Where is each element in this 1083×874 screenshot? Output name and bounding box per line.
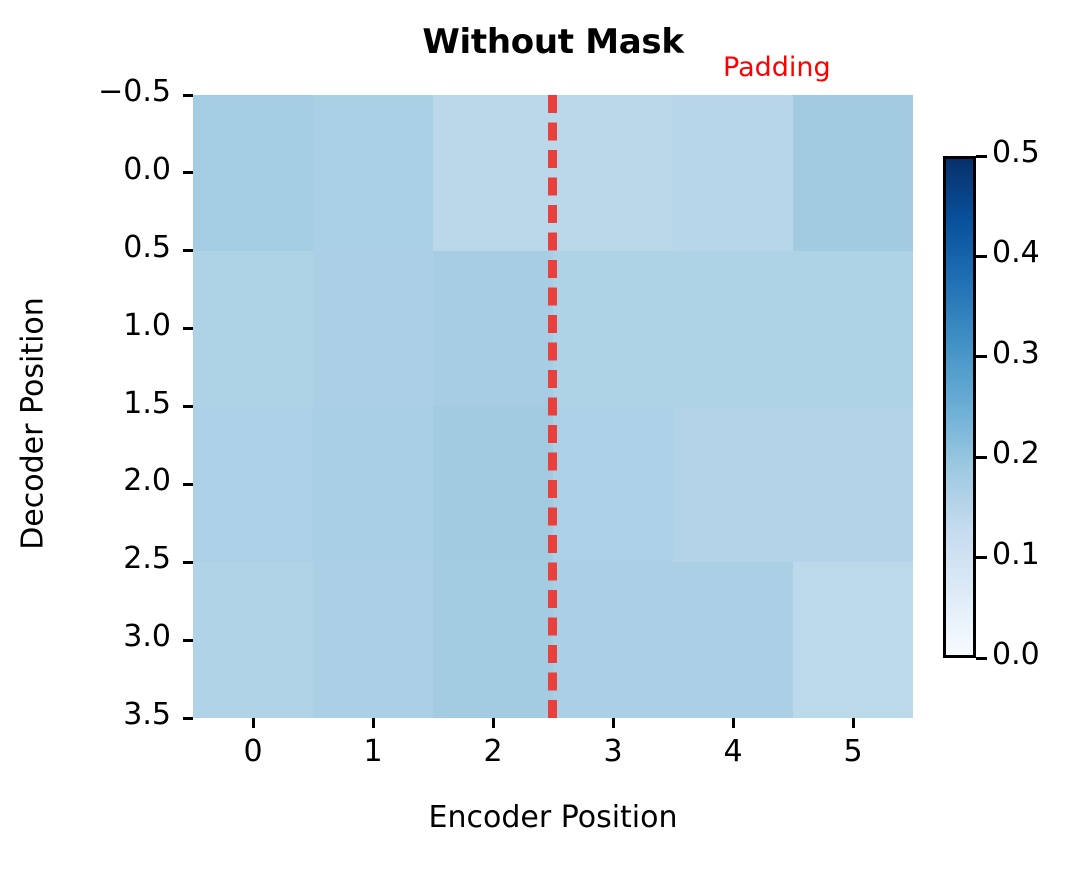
x-axis-label: Encoder Position bbox=[193, 800, 913, 835]
heatmap-cell bbox=[673, 407, 793, 563]
colorbar-tick-mark bbox=[976, 155, 987, 158]
heatmap-cell bbox=[193, 407, 313, 563]
y-tick-label: 3.0 bbox=[61, 619, 171, 654]
y-tick-mark bbox=[183, 717, 193, 720]
x-tick-mark bbox=[372, 718, 375, 728]
x-tick-label: 2 bbox=[463, 734, 523, 769]
colorbar-tick-mark bbox=[976, 255, 987, 258]
colorbar-gradient bbox=[943, 156, 976, 658]
heatmap-cell bbox=[313, 562, 433, 718]
x-tick-label: 0 bbox=[223, 734, 283, 769]
colorbar-tick-label: 0.3 bbox=[992, 336, 1040, 371]
heatmap-cell bbox=[673, 562, 793, 718]
padding-annotation-label: Padding bbox=[723, 52, 831, 83]
x-tick-mark bbox=[252, 718, 255, 728]
heatmap-cell bbox=[313, 407, 433, 563]
heatmap-cell bbox=[433, 407, 553, 563]
y-tick-label: 1.5 bbox=[61, 386, 171, 421]
heatmap-cell bbox=[313, 95, 433, 251]
heatmap-cell bbox=[673, 95, 793, 251]
y-tick-label: 0.5 bbox=[61, 230, 171, 265]
heatmap-cell bbox=[553, 407, 673, 563]
heatmap-cell bbox=[313, 251, 433, 407]
heatmap-cell bbox=[553, 562, 673, 718]
y-tick-label: 2.0 bbox=[61, 463, 171, 498]
colorbar-tick-mark bbox=[976, 456, 987, 459]
y-tick-mark bbox=[183, 639, 193, 642]
colorbar-tick-label: 0.5 bbox=[992, 135, 1040, 170]
heatmap-cell bbox=[433, 95, 553, 251]
x-tick-mark bbox=[732, 718, 735, 728]
heatmap-cell bbox=[673, 251, 793, 407]
x-tick-mark bbox=[852, 718, 855, 728]
y-tick-mark bbox=[183, 405, 193, 408]
colorbar-tick-mark bbox=[976, 355, 987, 358]
heatmap-cell bbox=[193, 562, 313, 718]
y-tick-label: −0.5 bbox=[61, 74, 171, 109]
colorbar-tick-mark bbox=[976, 657, 987, 660]
x-tick-label: 1 bbox=[343, 734, 403, 769]
y-tick-mark bbox=[183, 171, 193, 174]
y-tick-label: 1.0 bbox=[61, 308, 171, 343]
x-tick-label: 4 bbox=[703, 734, 763, 769]
y-tick-label: 3.5 bbox=[61, 697, 171, 732]
x-tick-mark bbox=[492, 718, 495, 728]
y-tick-label: 0.0 bbox=[61, 152, 171, 187]
colorbar-tick-label: 0.1 bbox=[992, 537, 1040, 572]
heatmap-cell bbox=[193, 251, 313, 407]
y-tick-mark bbox=[183, 327, 193, 330]
heatmap-cell bbox=[793, 407, 913, 563]
heatmap-cell bbox=[553, 95, 673, 251]
heatmap-cell bbox=[793, 562, 913, 718]
y-tick-label: 2.5 bbox=[61, 541, 171, 576]
colorbar-tick-label: 0.2 bbox=[992, 436, 1040, 471]
padding-divider-line bbox=[548, 95, 557, 718]
colorbar-tick-label: 0.0 bbox=[992, 637, 1040, 672]
colorbar bbox=[943, 156, 976, 658]
heatmap-cell bbox=[793, 251, 913, 407]
y-tick-mark bbox=[183, 561, 193, 564]
x-tick-label: 3 bbox=[583, 734, 643, 769]
heatmap-figure: Without Mask Padding Decoder Position −0… bbox=[0, 0, 1083, 874]
heatmap-cell bbox=[193, 95, 313, 251]
heatmap-cell bbox=[553, 251, 673, 407]
heatmap-cell bbox=[793, 95, 913, 251]
y-tick-mark bbox=[183, 483, 193, 486]
colorbar-tick-mark bbox=[976, 556, 987, 559]
y-tick-mark bbox=[183, 94, 193, 97]
x-tick-label: 5 bbox=[823, 734, 883, 769]
heatmap-cell bbox=[433, 251, 553, 407]
x-tick-mark bbox=[612, 718, 615, 728]
y-axis-label: Decoder Position bbox=[16, 274, 51, 574]
colorbar-tick-label: 0.4 bbox=[992, 235, 1040, 270]
y-tick-mark bbox=[183, 249, 193, 252]
heatmap-cell bbox=[433, 562, 553, 718]
